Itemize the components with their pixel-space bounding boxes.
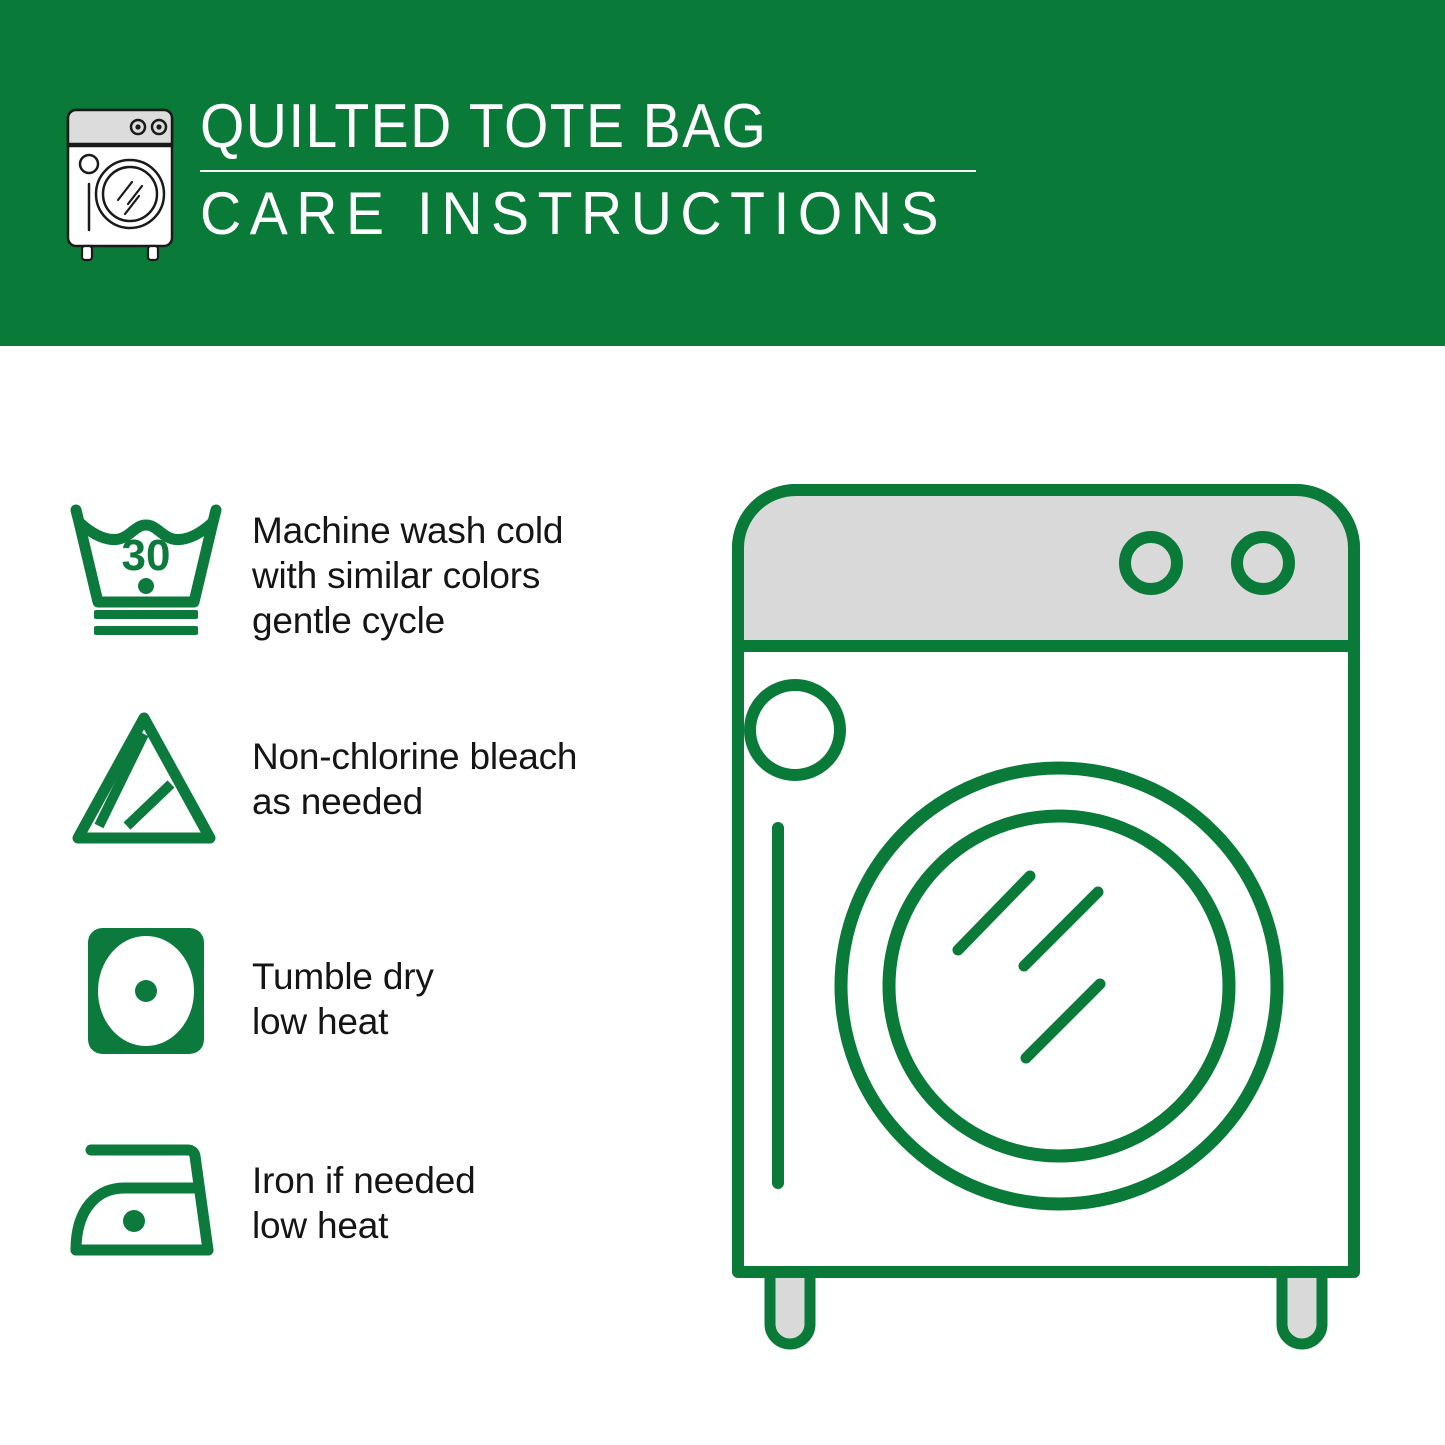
page-title: QUILTED TOTE BAG	[200, 96, 923, 158]
svg-text:30: 30	[122, 531, 171, 580]
header-band: QUILTED TOTE BAG CARE INSTRUCTIONS	[0, 0, 1445, 346]
header-titles: QUILTED TOTE BAG CARE INSTRUCTIONS	[200, 96, 986, 244]
care-row-machine-wash: 30 Machine wash cold with similar colors…	[62, 486, 702, 698]
care-row-bleach: Non-chlorine bleach as needed	[62, 698, 702, 910]
care-row-iron: Iron if needed low heat	[62, 1122, 702, 1334]
care-label-iron: Iron if needed low heat	[252, 1122, 475, 1248]
machine-door-inner	[889, 816, 1229, 1156]
tumble-dry-low-heat-icon	[62, 910, 230, 1066]
title-divider	[200, 170, 976, 172]
large-washing-machine-illustration	[726, 478, 1406, 1368]
machine-knob-left	[1125, 537, 1177, 589]
care-row-tumble-dry: Tumble dry low heat	[62, 910, 702, 1122]
wash-tub-30-gentle-icon: 30	[62, 486, 230, 642]
page-subtitle: CARE INSTRUCTIONS	[200, 184, 947, 244]
care-instructions-list: 30 Machine wash cold with similar colors…	[62, 486, 702, 1334]
machine-legs	[770, 1268, 1322, 1344]
iron-low-heat-icon	[62, 1122, 230, 1278]
care-label-machine-wash: Machine wash cold with similar colors ge…	[252, 486, 563, 643]
machine-dispenser-circle	[750, 685, 840, 775]
care-label-bleach: Non-chlorine bleach as needed	[252, 698, 577, 824]
care-label-tumble-dry: Tumble dry low heat	[252, 910, 434, 1044]
washing-machine-icon	[62, 104, 178, 264]
header-content: QUILTED TOTE BAG CARE INSTRUCTIONS	[62, 96, 986, 264]
machine-knob-right	[1237, 537, 1289, 589]
non-chlorine-bleach-triangle-icon	[62, 698, 230, 854]
